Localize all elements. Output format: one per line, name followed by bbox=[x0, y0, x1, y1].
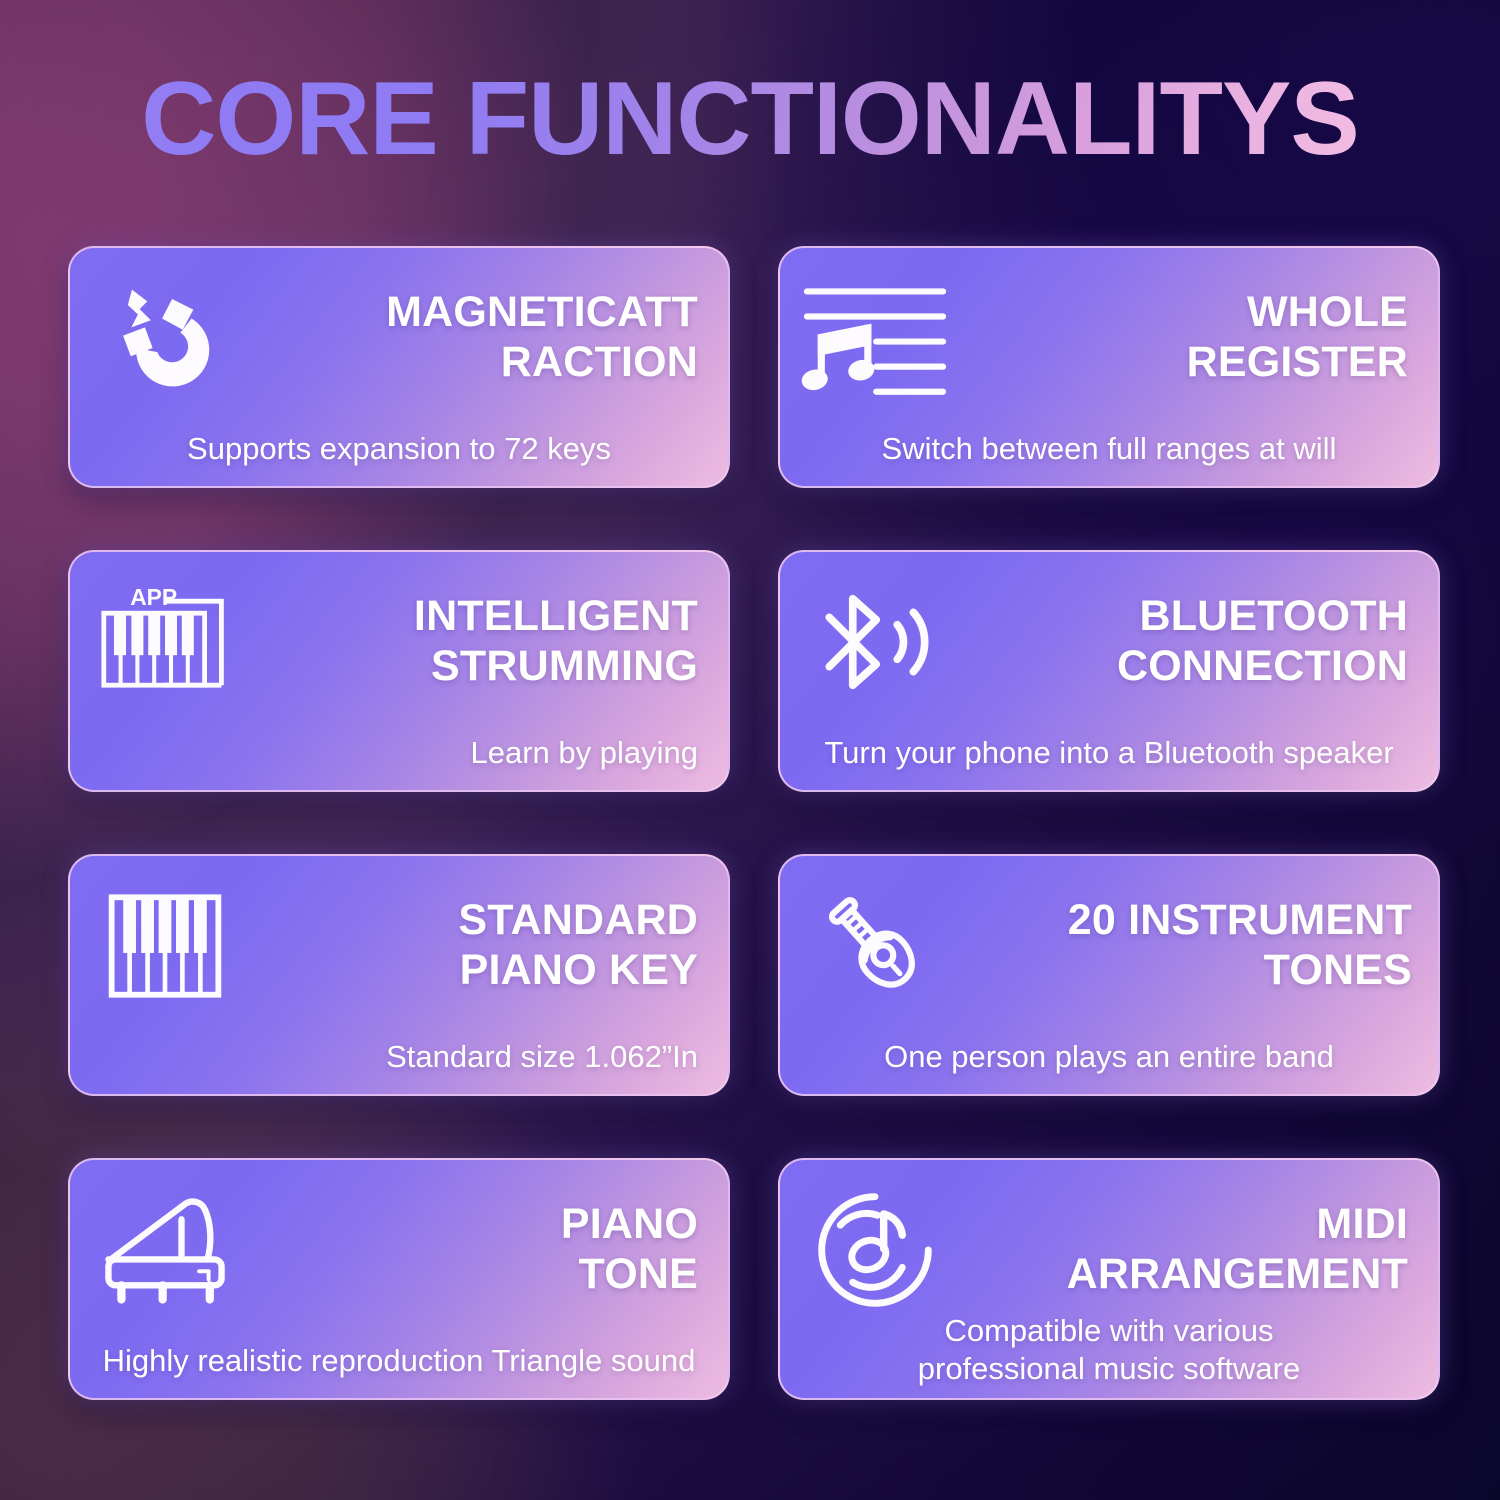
card-title-line-1: INTELLIGENT bbox=[260, 592, 698, 642]
card-title-block: INTELLIGENT STRUMMING bbox=[260, 592, 728, 692]
card-title-line-2: ARRANGEMENT bbox=[970, 1250, 1408, 1300]
card-title-line-2: TONE bbox=[260, 1250, 698, 1300]
card-title-line-2: PIANO KEY bbox=[260, 946, 698, 996]
card-header: 20 INSTRUMENT TONES bbox=[780, 878, 1438, 1014]
card-description: Highly realistic reproduction Triangle s… bbox=[94, 1342, 704, 1380]
svg-text:APP: APP bbox=[130, 584, 177, 610]
card-header: BLUETOOTH CONNECTION bbox=[780, 574, 1438, 710]
card-title-line-1: 20 INSTRUMENT bbox=[970, 896, 1412, 946]
card-title-line-1: WHOLE bbox=[970, 288, 1408, 338]
card-title-line-1: STANDARD bbox=[260, 896, 698, 946]
card-header: STANDARD PIANO KEY bbox=[70, 878, 728, 1014]
card-description-line-1: Compatible with various bbox=[804, 1312, 1414, 1350]
card-title-line-1: PIANO bbox=[260, 1200, 698, 1250]
feature-card-midi-arrangement[interactable]: MIDI ARRANGEMENT Compatible with various… bbox=[778, 1158, 1440, 1400]
card-title-line-1: BLUETOOTH bbox=[970, 592, 1408, 642]
card-header: MAGNETICATT RACTION bbox=[70, 270, 728, 406]
card-title-line-1: MIDI bbox=[970, 1200, 1408, 1250]
card-title-line-2: CONNECTION bbox=[970, 642, 1408, 692]
guitar-icon bbox=[780, 884, 970, 1008]
music-staff-icon bbox=[780, 278, 970, 398]
card-title-block: MIDI ARRANGEMENT bbox=[970, 1200, 1438, 1300]
feature-card-intelligent-strumming[interactable]: APP bbox=[68, 550, 730, 792]
card-description: Standard size 1.062”In bbox=[94, 1038, 704, 1076]
feature-card-standard-piano-key[interactable]: STANDARD PIANO KEY Standard size 1.062”I… bbox=[68, 854, 730, 1096]
feature-card-whole-register[interactable]: WHOLE REGISTER Switch between full range… bbox=[778, 246, 1440, 488]
card-description: One person plays an entire band bbox=[804, 1038, 1414, 1076]
card-title-block: STANDARD PIANO KEY bbox=[260, 896, 728, 996]
magnet-icon bbox=[70, 279, 260, 397]
vinyl-note-icon bbox=[780, 1188, 970, 1312]
card-title-line-2: STRUMMING bbox=[260, 642, 698, 692]
card-description-line-2: professional music software bbox=[804, 1350, 1414, 1388]
card-title-block: BLUETOOTH CONNECTION bbox=[970, 592, 1438, 692]
feature-card-magnetic-attraction[interactable]: MAGNETICATT RACTION Supports expansion t… bbox=[68, 246, 730, 488]
card-header: WHOLE REGISTER bbox=[780, 270, 1438, 406]
card-title-block: PIANO TONE bbox=[260, 1200, 728, 1300]
card-title-block: MAGNETICATT RACTION bbox=[260, 288, 728, 388]
page-title: CORE FUNCTIONALITYS bbox=[0, 62, 1500, 176]
piano-keys-icon bbox=[70, 888, 260, 1004]
card-description: Supports expansion to 72 keys bbox=[94, 430, 704, 468]
card-description: Learn by playing bbox=[94, 734, 704, 772]
card-title-line-2: RACTION bbox=[260, 338, 698, 388]
card-title-line-2: TONES bbox=[970, 946, 1412, 996]
card-header: APP bbox=[70, 574, 728, 710]
bluetooth-icon bbox=[780, 579, 970, 705]
feature-card-piano-tone[interactable]: PIANO TONE Highly realistic reproduction… bbox=[68, 1158, 730, 1400]
card-title-line-2: REGISTER bbox=[970, 338, 1408, 388]
card-description: Compatible with various professional mus… bbox=[804, 1312, 1414, 1388]
feature-card-bluetooth-connection[interactable]: BLUETOOTH CONNECTION Turn your phone int… bbox=[778, 550, 1440, 792]
piano-app-icon: APP bbox=[70, 582, 260, 702]
feature-card-grid: MAGNETICATT RACTION Supports expansion t… bbox=[68, 246, 1440, 1400]
card-header: PIANO TONE bbox=[70, 1182, 728, 1318]
card-description: Switch between full ranges at will bbox=[804, 430, 1414, 468]
grand-piano-icon bbox=[70, 1191, 260, 1309]
card-header: MIDI ARRANGEMENT bbox=[780, 1182, 1438, 1318]
card-title-line-1: MAGNETICATT bbox=[260, 288, 698, 338]
card-title-block: WHOLE REGISTER bbox=[970, 288, 1438, 388]
feature-card-instrument-tones[interactable]: 20 INSTRUMENT TONES One person plays an … bbox=[778, 854, 1440, 1096]
card-description: Turn your phone into a Bluetooth speaker bbox=[804, 734, 1414, 772]
card-title-block: 20 INSTRUMENT TONES bbox=[970, 896, 1438, 996]
